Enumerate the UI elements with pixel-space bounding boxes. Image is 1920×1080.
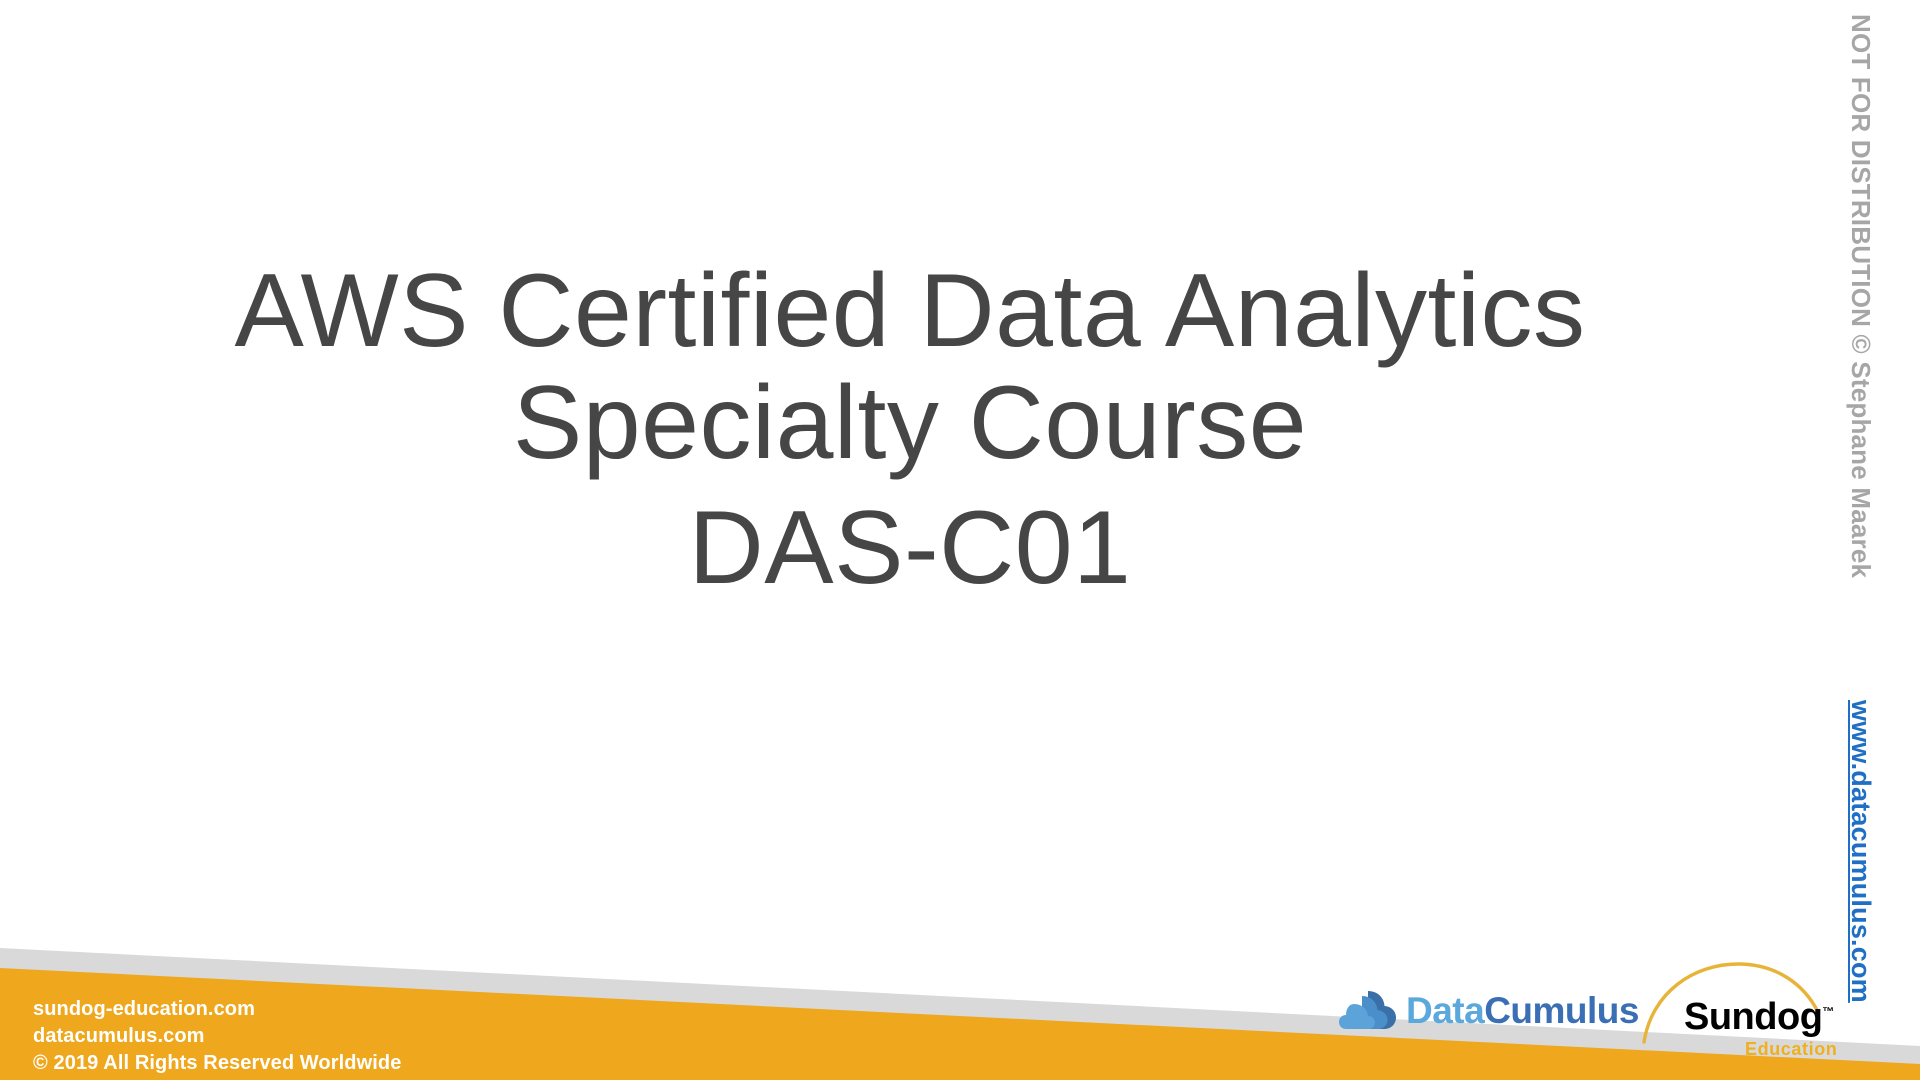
- sundog-wordmark: Sundog™: [1684, 998, 1834, 1036]
- footer-copyright: © 2019 All Rights Reserved Worldwide: [33, 1050, 401, 1077]
- slide-canvas: AWS Certified Data Analytics Specialty C…: [0, 0, 1920, 1080]
- footer-datacumulus-url: datacumulus.com: [33, 1023, 401, 1050]
- datacumulus-word-cumulus: Cumulus: [1484, 990, 1639, 1031]
- footer-credits: sundog-education.com datacumulus.com © 2…: [33, 996, 401, 1077]
- title-line-1: AWS Certified Data Analytics: [150, 255, 1670, 367]
- cloud-icon: [1338, 987, 1400, 1033]
- footer-sundog-url: sundog-education.com: [33, 996, 401, 1023]
- sundog-tagline: Education: [1745, 1040, 1837, 1058]
- title-line-3: DAS-C01: [150, 492, 1670, 604]
- datacumulus-logo: DataCumulus: [1338, 982, 1639, 1038]
- datacumulus-wordmark: DataCumulus: [1406, 992, 1639, 1029]
- datacumulus-link[interactable]: www.datacumulus.com: [1847, 700, 1874, 1003]
- distribution-notice-watermark: NOT FOR DISTRIBUTION © Stephane Maarek: [1848, 14, 1874, 578]
- datacumulus-word-data: Data: [1406, 990, 1484, 1031]
- title-line-2: Specialty Course: [150, 367, 1670, 479]
- page-title: AWS Certified Data Analytics Specialty C…: [150, 255, 1670, 604]
- sundog-name-text: Sundog: [1684, 996, 1822, 1038]
- sundog-education-logo: Sundog™ Education: [1642, 962, 1832, 1070]
- trademark-symbol: ™: [1822, 1004, 1834, 1018]
